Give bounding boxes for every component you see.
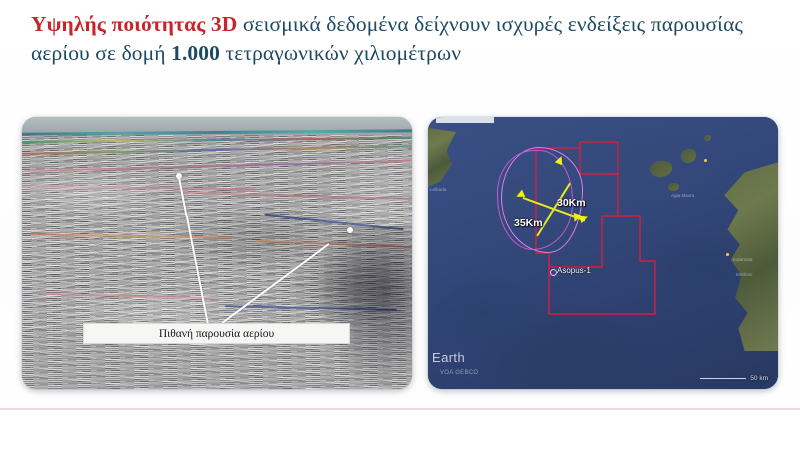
- map-poi-caption: Lefkada: [430, 187, 446, 192]
- well-label-asopus: Asopus-1: [557, 266, 591, 275]
- scale-bar-text: 50 km: [750, 375, 768, 382]
- distance-label-35km: 35Km: [514, 217, 543, 229]
- seismic-section-image: [22, 117, 412, 389]
- map-poi-caption: Agia Mavra: [671, 193, 694, 198]
- seismic-canvas: [22, 117, 412, 389]
- distance-label-30km: 30Km: [557, 197, 586, 209]
- map-poi-caption: Kalamata: [733, 257, 752, 262]
- seismic-annotation-label: Πιθανή παρουσία αερίου: [83, 323, 350, 344]
- map-data-credit: VOA GEBCO: [440, 370, 478, 376]
- footer: 8 ETHOS Our World, Our Responsibility EN…: [0, 410, 800, 450]
- title-segment-blue-2: τετραγωνικών χιλιομέτρων: [220, 41, 461, 65]
- title-segment-number: 1.000: [171, 41, 220, 65]
- callout-anchor-right: [347, 227, 353, 233]
- map-poi-caption: Methoni: [736, 272, 752, 277]
- map-poi-dot: [704, 159, 707, 162]
- google-earth-watermark: Earth: [432, 350, 465, 365]
- title-segment-red: Υψηλής ποιότητας 3D: [31, 12, 237, 36]
- map-poi-dot: [726, 253, 729, 256]
- slide: Υψηλής ποιότητας 3D σεισμικά δεδομένα δε…: [0, 0, 800, 450]
- map-canvas: Agia Mavra Kalamata Methoni Lefkada 30Km: [428, 117, 778, 389]
- well-marker-asopus: [550, 269, 557, 276]
- seismic-annotation-text: Πιθανή παρουσία αερίου: [159, 328, 274, 340]
- seismic-dark-zone: [318, 226, 412, 389]
- page-title: Υψηλής ποιότητας 3D σεισμικά δεδομένα δε…: [31, 10, 771, 68]
- map-top-strip: [436, 117, 494, 123]
- scale-bar-line: [700, 378, 746, 379]
- map-scale-bar: 50 km: [700, 375, 768, 382]
- concession-map-image: Agia Mavra Kalamata Methoni Lefkada 30Km: [428, 117, 778, 389]
